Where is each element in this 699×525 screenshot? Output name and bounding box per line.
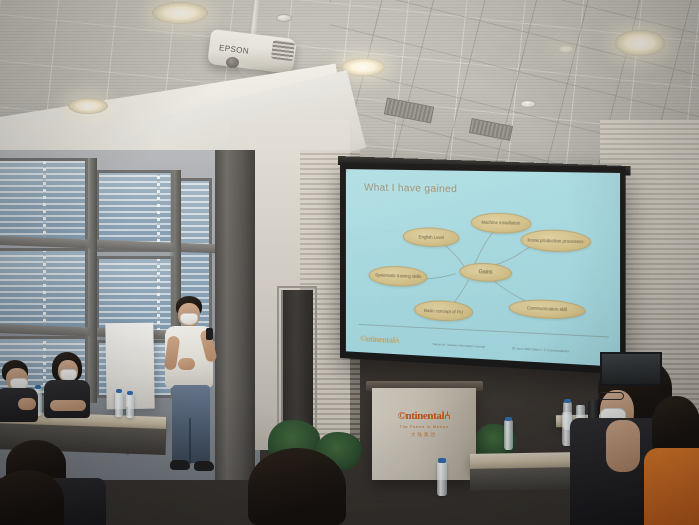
structural-column [215,150,255,480]
presenter-clicker[interactable] [206,328,213,340]
projection-screen: What I have gained Gains Machine install… [340,163,626,375]
window-top-left [0,158,88,244]
blind-cord[interactable] [157,173,160,249]
podium-tagline: The Future in Motion [372,424,476,429]
foreground-3-hair [652,396,699,452]
bottle-cap-5 [438,458,446,463]
water-bottle-3[interactable] [115,392,123,417]
bottle-cap-4 [127,391,133,395]
foreground-3-shirt [644,448,699,525]
water-bottle-4[interactable] [126,394,134,418]
wall-monitor [600,352,662,386]
water-bottle-6[interactable] [504,420,513,450]
attendee-2-blouse [44,380,90,418]
bottle-cap-1 [35,385,41,389]
bottle-cap-7 [564,399,571,403]
presenter-jeans [172,385,210,463]
blind-cord[interactable] [157,259,160,331]
presenter-face-mask [180,313,198,325]
attendee-1-arm [18,398,36,410]
podium: ©ntinental⑃ The Future in Motion 大陆集团 [372,388,476,480]
conference-room-photo: EPSON What I ha [0,0,699,525]
downlight-2 [615,30,665,56]
foreground-2-glasses-icon [598,392,624,400]
projector-vent-icon [271,40,295,62]
downlight-8 [558,45,574,53]
foreground-2-arm [606,420,640,472]
presenter-gesturing-hand [178,358,195,370]
window-mullion-vertical-1 [86,158,97,403]
attendee-2-arms-crossed [50,400,86,411]
continental-logo-podium: ©ntinental⑃ [372,410,476,422]
presenter-shoe-right [194,461,214,471]
bottle-cap-6 [505,417,512,421]
blind-cord[interactable] [43,161,46,241]
window-blinds[interactable] [99,173,171,249]
presentation-slide: What I have gained Gains Machine install… [346,169,620,367]
blind-cord[interactable] [43,251,46,329]
foreground-1-hair [248,448,346,525]
window-blinds[interactable] [99,259,171,331]
smoke-detector-2 [520,100,536,108]
presenter-jeans-split [189,418,191,464]
podium-chinese-text: 大陆集团 [372,432,476,438]
bottle-cap-3 [116,389,122,393]
exit-door[interactable] [281,290,313,440]
presenter-shoe-left [170,460,190,470]
downlight-1 [152,2,208,24]
smoke-detector-1 [276,14,292,22]
window-mid-left [0,248,88,332]
soffit-downlight-1 [68,98,108,114]
water-bottle-5[interactable] [437,462,447,496]
